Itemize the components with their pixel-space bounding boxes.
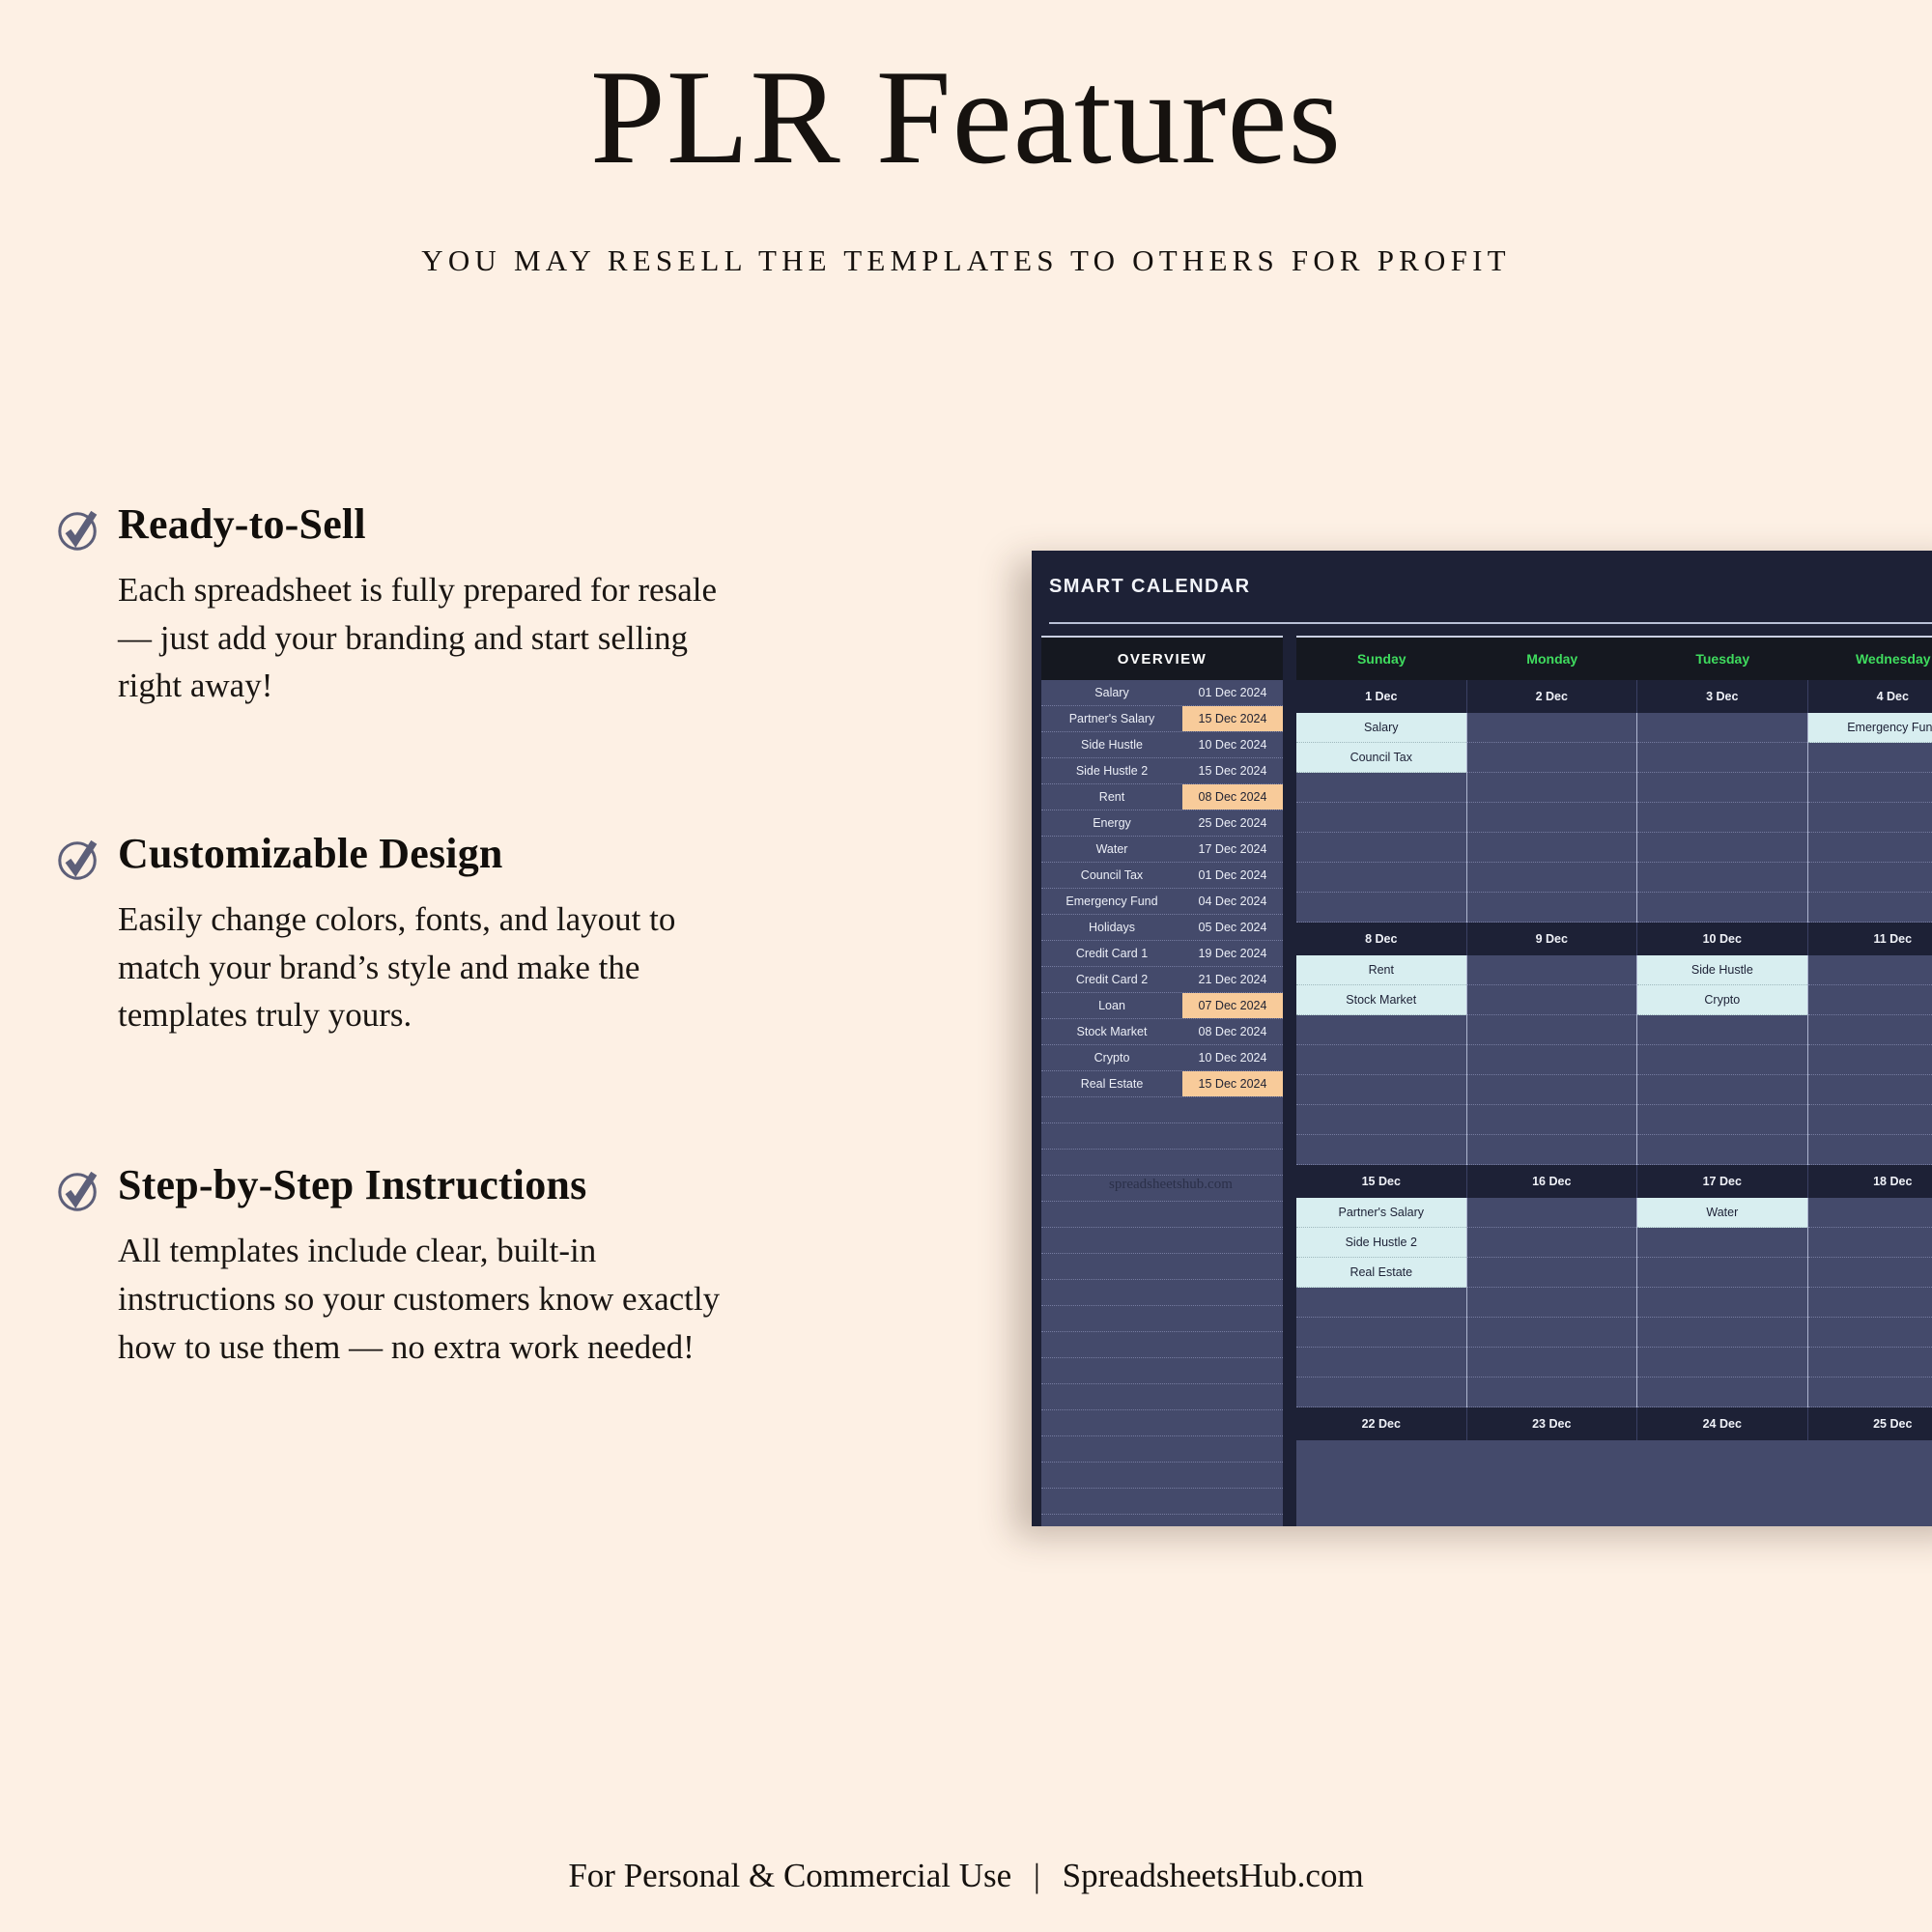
calendar-date-cell[interactable]: 10 Dec <box>1637 923 1808 955</box>
overview-row-label: Holidays <box>1041 915 1182 940</box>
calendar-day-column: RentStock Market <box>1296 955 1467 1165</box>
calendar-empty-cell[interactable] <box>1808 1045 1932 1075</box>
calendar-empty-cell[interactable] <box>1808 803 1932 833</box>
calendar-event[interactable]: Council Tax <box>1296 743 1466 773</box>
calendar-empty-cell[interactable] <box>1467 1228 1637 1258</box>
calendar-day-column <box>1467 713 1638 923</box>
calendar-empty-cell[interactable] <box>1808 1318 1932 1348</box>
calendar-empty-cell[interactable] <box>1467 1075 1637 1105</box>
footer-left: For Personal & Commercial Use <box>568 1857 1011 1894</box>
calendar-bottom-dates: 22 Dec23 Dec24 Dec25 Dec <box>1296 1407 1932 1440</box>
overview-row-label: Water <box>1041 837 1182 862</box>
calendar-day-column <box>1808 1198 1932 1407</box>
calendar-empty-cell[interactable] <box>1808 1228 1932 1258</box>
page-title: PLR Features <box>0 46 1932 188</box>
calendar-empty-cell[interactable] <box>1808 743 1932 773</box>
overview-row-label: Council Tax <box>1041 863 1182 888</box>
calendar-empty-cell[interactable] <box>1467 1198 1637 1228</box>
calendar-day-header: Tuesday <box>1637 638 1808 680</box>
calendar-event[interactable]: Real Estate <box>1296 1258 1466 1288</box>
calendar-empty-cell[interactable] <box>1637 1228 1807 1258</box>
calendar-date-cell[interactable]: 1 Dec <box>1296 680 1467 713</box>
overview-row-date-highlighted: 15 Dec 2024 <box>1182 706 1283 731</box>
calendar-day-column: Emergency Fund <box>1808 713 1932 923</box>
calendar-empty-cell[interactable] <box>1467 985 1637 1015</box>
overview-row[interactable]: Salary01 Dec 2024 <box>1041 680 1283 706</box>
calendar-week-grid: Partner's SalarySide Hustle 2Real Estate… <box>1296 1198 1932 1407</box>
calendar-empty-cell[interactable] <box>1808 1258 1932 1288</box>
feature-title: Step-by-Step Instructions <box>118 1163 586 1207</box>
calendar-empty-cell[interactable] <box>1637 833 1807 863</box>
calendar-date-cell[interactable]: 11 Dec <box>1808 923 1932 955</box>
overview-row-date: 19 Dec 2024 <box>1182 941 1283 966</box>
calendar-event[interactable]: Stock Market <box>1296 985 1466 1015</box>
overview-empty-row <box>1041 1463 1283 1489</box>
overview-empty-row <box>1041 1358 1283 1384</box>
calendar-day-column <box>1467 1198 1638 1407</box>
overview-empty-row <box>1041 1384 1283 1410</box>
overview-row[interactable]: Holidays05 Dec 2024 <box>1041 915 1283 941</box>
overview-row-date: 17 Dec 2024 <box>1182 837 1283 862</box>
spreadsheet-body: OVERVIEW Salary01 Dec 2024Partner's Sala… <box>1032 636 1932 1526</box>
calendar-empty-cell[interactable] <box>1296 1378 1466 1407</box>
feature-item: Ready-to-Sell Each spreadsheet is fully … <box>56 502 752 710</box>
calendar-empty-cell[interactable] <box>1467 955 1637 985</box>
calendar-empty-cell[interactable] <box>1467 743 1637 773</box>
calendar-date-cell[interactable]: 3 Dec <box>1637 680 1808 713</box>
overview-empty-row <box>1041 1306 1283 1332</box>
spreadsheet-title: SMART CALENDAR <box>1049 576 1250 598</box>
overview-table: Salary01 Dec 2024Partner's Salary15 Dec … <box>1041 680 1283 1097</box>
calendar-day-header: Sunday <box>1296 638 1467 680</box>
calendar-event[interactable]: Emergency Fund <box>1808 713 1932 743</box>
overview-row-label: Salary <box>1041 680 1182 705</box>
calendar-empty-cell[interactable] <box>1637 1105 1807 1135</box>
overview-row-date: 15 Dec 2024 <box>1182 758 1283 783</box>
calendar-day-column: Partner's SalarySide Hustle 2Real Estate <box>1296 1198 1467 1407</box>
calendar-day-column <box>1467 955 1638 1165</box>
calendar-empty-cell[interactable] <box>1296 1288 1466 1318</box>
overview-row-date-highlighted: 15 Dec 2024 <box>1182 1071 1283 1096</box>
overview-row-label: Real Estate <box>1041 1071 1182 1096</box>
calendar-event[interactable]: Rent <box>1296 955 1466 985</box>
feature-heading-row: Ready-to-Sell <box>56 502 752 553</box>
overview-empty-row <box>1041 1489 1283 1515</box>
feature-body: Easily change colors, fonts, and layout … <box>118 895 736 1039</box>
calendar-empty-cell[interactable] <box>1296 1318 1466 1348</box>
overview-row[interactable]: Partner's Salary15 Dec 2024 <box>1041 706 1283 732</box>
overview-row-label: Partner's Salary <box>1041 706 1182 731</box>
overview-empty-row <box>1041 1436 1283 1463</box>
calendar-empty-cell[interactable] <box>1808 1105 1932 1135</box>
circled-check-icon <box>56 838 100 882</box>
overview-row[interactable]: Crypto10 Dec 2024 <box>1041 1045 1283 1071</box>
calendar-empty-cell[interactable] <box>1808 1198 1932 1228</box>
calendar-week-grid: RentStock MarketSide HustleCrypto <box>1296 955 1932 1165</box>
overview-row[interactable]: Credit Card 221 Dec 2024 <box>1041 967 1283 993</box>
calendar-event[interactable]: Partner's Salary <box>1296 1198 1466 1228</box>
calendar-date-cell[interactable]: 24 Dec <box>1637 1407 1808 1440</box>
overview-row-date-highlighted: 07 Dec 2024 <box>1182 993 1283 1018</box>
feature-item: Customizable Design Easily change colors… <box>56 832 752 1039</box>
overview-row[interactable]: Side Hustle 215 Dec 2024 <box>1041 758 1283 784</box>
calendar-week-dates: 1 Dec2 Dec3 Dec4 Dec <box>1296 680 1932 713</box>
footer-separator: | <box>1034 1857 1040 1894</box>
overview-row-label: Side Hustle <box>1041 732 1182 757</box>
calendar-empty-cell[interactable] <box>1808 1135 1932 1165</box>
overview-row-label: Credit Card 1 <box>1041 941 1182 966</box>
overview-row-date: 21 Dec 2024 <box>1182 967 1283 992</box>
spreadsheet-window: SMART CALENDAR OVERVIEW Salary01 Dec 202… <box>1032 551 1932 1526</box>
calendar-week: 15 Dec16 Dec17 Dec18 DecPartner's Salary… <box>1296 1165 1932 1407</box>
calendar-day-header: Wednesday <box>1808 638 1932 680</box>
overview-row[interactable]: Rent08 Dec 2024 <box>1041 784 1283 810</box>
calendar-weeks: 1 Dec2 Dec3 Dec4 DecSalaryCouncil TaxEme… <box>1296 680 1932 1407</box>
calendar-empty-cell[interactable] <box>1296 1015 1466 1045</box>
overview-row-label: Energy <box>1041 810 1182 836</box>
calendar-empty-cell[interactable] <box>1637 1258 1807 1288</box>
calendar-date-cell[interactable]: 4 Dec <box>1808 680 1932 713</box>
overview-row-date: 10 Dec 2024 <box>1182 1045 1283 1070</box>
calendar-event[interactable]: Water <box>1637 1198 1807 1228</box>
overview-row-label: Crypto <box>1041 1045 1182 1070</box>
overview-empty-row <box>1041 1254 1283 1280</box>
calendar-empty-cell[interactable] <box>1808 955 1932 985</box>
calendar-day-column <box>1637 713 1808 923</box>
calendar-empty-cell[interactable] <box>1808 1378 1932 1407</box>
calendar-empty-cell[interactable] <box>1637 713 1807 743</box>
calendar-empty-cell[interactable] <box>1637 1318 1807 1348</box>
overview-empty-row <box>1041 1150 1283 1176</box>
calendar-empty-cell[interactable] <box>1467 773 1637 803</box>
calendar-empty-cell[interactable] <box>1637 1135 1807 1165</box>
calendar-day-column: SalaryCouncil Tax <box>1296 713 1467 923</box>
calendar-empty-cell[interactable] <box>1637 1348 1807 1378</box>
calendar-week-dates: 8 Dec9 Dec10 Dec11 Dec <box>1296 923 1932 955</box>
feature-title: Customizable Design <box>118 832 503 876</box>
feature-heading-row: Step-by-Step Instructions <box>56 1163 752 1213</box>
footer: For Personal & Commercial Use | Spreadsh… <box>0 1857 1932 1895</box>
overview-empty-row <box>1041 1123 1283 1150</box>
calendar-empty-cell[interactable] <box>1296 863 1466 893</box>
calendar-date-cell[interactable]: 23 Dec <box>1467 1407 1638 1440</box>
overview-row-date-highlighted: 08 Dec 2024 <box>1182 784 1283 810</box>
overview-empty-row <box>1041 1280 1283 1306</box>
feature-title: Ready-to-Sell <box>118 502 366 547</box>
calendar-empty-cell[interactable] <box>1467 1318 1637 1348</box>
calendar-empty-cell[interactable] <box>1296 1075 1466 1105</box>
calendar-week: 8 Dec9 Dec10 Dec11 DecRentStock MarketSi… <box>1296 923 1932 1165</box>
calendar-empty-cell[interactable] <box>1296 833 1466 863</box>
overview-empty-row <box>1041 1202 1283 1228</box>
calendar-empty-cell[interactable] <box>1467 803 1637 833</box>
calendar-empty-cell[interactable] <box>1637 1378 1807 1407</box>
spreadsheet-header: SMART CALENDAR <box>1032 551 1932 636</box>
overview-empty-row <box>1041 1332 1283 1358</box>
footer-right: SpreadsheetsHub.com <box>1063 1857 1364 1894</box>
calendar-empty-cell[interactable] <box>1467 893 1637 923</box>
calendar-empty-cell[interactable] <box>1808 833 1932 863</box>
poster-page: PLR Features You may resell the template… <box>0 0 1932 1932</box>
calendar-date-cell[interactable]: 18 Dec <box>1808 1165 1932 1198</box>
overview-row[interactable]: Credit Card 119 Dec 2024 <box>1041 941 1283 967</box>
overview-row[interactable]: Side Hustle10 Dec 2024 <box>1041 732 1283 758</box>
calendar-date-cell[interactable]: 25 Dec <box>1808 1407 1932 1440</box>
calendar-week: 1 Dec2 Dec3 Dec4 DecSalaryCouncil TaxEme… <box>1296 680 1932 923</box>
calendar-empty-cell[interactable] <box>1808 773 1932 803</box>
calendar-panel: SundayMondayTuesdayWednesday 1 Dec2 Dec3… <box>1293 636 1932 1526</box>
calendar-empty-cell[interactable] <box>1467 1045 1637 1075</box>
overview-row-date: 25 Dec 2024 <box>1182 810 1283 836</box>
calendar-empty-cell[interactable] <box>1467 1015 1637 1045</box>
spreadsheet-screenshot: SMART CALENDAR OVERVIEW Salary01 Dec 202… <box>1032 551 1932 1526</box>
header-divider <box>1049 622 1932 624</box>
calendar-date-cell[interactable]: 15 Dec <box>1296 1165 1467 1198</box>
calendar-date-cell[interactable]: 17 Dec <box>1637 1165 1808 1198</box>
calendar-empty-cell[interactable] <box>1808 863 1932 893</box>
overview-row-label: Stock Market <box>1041 1019 1182 1044</box>
overview-row-date: 04 Dec 2024 <box>1182 889 1283 914</box>
calendar-empty-cell[interactable] <box>1467 1378 1637 1407</box>
overview-empty-row <box>1041 1228 1283 1254</box>
calendar-date-cell[interactable]: 2 Dec <box>1467 680 1638 713</box>
calendar-empty-cell[interactable] <box>1467 1105 1637 1135</box>
overview-empty-row <box>1041 1097 1283 1123</box>
calendar-empty-cell[interactable] <box>1296 803 1466 833</box>
calendar-day-header: Monday <box>1467 638 1638 680</box>
calendar-empty-cell[interactable] <box>1808 1075 1932 1105</box>
feature-item: Step-by-Step Instructions All templates … <box>56 1163 752 1371</box>
calendar-event[interactable]: Salary <box>1296 713 1466 743</box>
calendar-week-dates: 15 Dec16 Dec17 Dec18 Dec <box>1296 1165 1932 1198</box>
calendar-empty-cell[interactable] <box>1467 713 1637 743</box>
overview-row[interactable]: Council Tax01 Dec 2024 <box>1041 863 1283 889</box>
calendar-empty-cell[interactable] <box>1637 743 1807 773</box>
calendar-empty-cell[interactable] <box>1296 773 1466 803</box>
calendar-empty-cell[interactable] <box>1467 833 1637 863</box>
calendar-empty-cell[interactable] <box>1467 1135 1637 1165</box>
calendar-empty-cell[interactable] <box>1467 1288 1637 1318</box>
overview-row-date: 10 Dec 2024 <box>1182 732 1283 757</box>
overview-row-date: 01 Dec 2024 <box>1182 680 1283 705</box>
overview-row[interactable]: Stock Market08 Dec 2024 <box>1041 1019 1283 1045</box>
overview-empty-row <box>1041 1515 1283 1526</box>
calendar-event[interactable]: Crypto <box>1637 985 1807 1015</box>
overview-row-label: Loan <box>1041 993 1182 1018</box>
calendar-empty-cell[interactable] <box>1467 1348 1637 1378</box>
calendar-empty-cell[interactable] <box>1296 893 1466 923</box>
calendar-date-cell[interactable]: 9 Dec <box>1467 923 1638 955</box>
calendar-empty-cell[interactable] <box>1467 863 1637 893</box>
calendar-day-column <box>1808 955 1932 1165</box>
overview-row-date: 08 Dec 2024 <box>1182 1019 1283 1044</box>
calendar-day-column: Water <box>1637 1198 1808 1407</box>
calendar-empty-cell[interactable] <box>1808 985 1932 1015</box>
calendar-empty-cell[interactable] <box>1637 1015 1807 1045</box>
circled-check-icon <box>56 1169 100 1213</box>
calendar-empty-cell[interactable] <box>1296 1135 1466 1165</box>
calendar-empty-cell[interactable] <box>1296 1045 1466 1075</box>
calendar-empty-cell[interactable] <box>1637 1288 1807 1318</box>
calendar-date-cell[interactable]: 8 Dec <box>1296 923 1467 955</box>
overview-row-label: Emergency Fund <box>1041 889 1182 914</box>
overview-row-date: 05 Dec 2024 <box>1182 915 1283 940</box>
calendar-empty-cell[interactable] <box>1637 773 1807 803</box>
calendar-empty-cell[interactable] <box>1808 1348 1932 1378</box>
calendar-empty-cell[interactable] <box>1637 863 1807 893</box>
calendar-event[interactable]: Side Hustle <box>1637 955 1807 985</box>
feature-body: Each spreadsheet is fully prepared for r… <box>118 566 736 710</box>
overview-row[interactable]: Loan07 Dec 2024 <box>1041 993 1283 1019</box>
feature-body: All templates include clear, built-in in… <box>118 1227 736 1371</box>
calendar-empty-cell[interactable] <box>1637 803 1807 833</box>
calendar-empty-cell[interactable] <box>1637 893 1807 923</box>
feature-list: Ready-to-Sell Each spreadsheet is fully … <box>56 502 752 1446</box>
overview-empty-row <box>1041 1410 1283 1436</box>
overview-heading: OVERVIEW <box>1041 636 1283 680</box>
calendar-event[interactable]: Side Hustle 2 <box>1296 1228 1466 1258</box>
calendar-empty-cell[interactable] <box>1637 1075 1807 1105</box>
calendar-empty-cell[interactable] <box>1296 1105 1466 1135</box>
calendar-empty-cell[interactable] <box>1637 1045 1807 1075</box>
calendar-empty-cell[interactable] <box>1296 1348 1466 1378</box>
overview-row-label: Credit Card 2 <box>1041 967 1182 992</box>
circled-check-icon <box>56 508 100 553</box>
calendar-empty-cell[interactable] <box>1808 1015 1932 1045</box>
overview-row[interactable]: Real Estate15 Dec 2024 <box>1041 1071 1283 1097</box>
overview-empty-rows <box>1041 1097 1283 1526</box>
overview-row[interactable]: Water17 Dec 2024 <box>1041 837 1283 863</box>
overview-row-label: Side Hustle 2 <box>1041 758 1182 783</box>
overview-row-label: Rent <box>1041 784 1182 810</box>
overview-panel: OVERVIEW Salary01 Dec 2024Partner's Sala… <box>1041 636 1283 1526</box>
overview-row[interactable]: Emergency Fund04 Dec 2024 <box>1041 889 1283 915</box>
calendar-empty-cell[interactable] <box>1467 1258 1637 1288</box>
calendar-week-grid: SalaryCouncil TaxEmergency Fund <box>1296 713 1932 923</box>
overview-row[interactable]: Energy25 Dec 2024 <box>1041 810 1283 837</box>
calendar-empty-cell[interactable] <box>1808 893 1932 923</box>
calendar-date-cell[interactable]: 16 Dec <box>1467 1165 1638 1198</box>
watermark: spreadsheetshub.com <box>1109 1177 1233 1193</box>
calendar-day-headers: SundayMondayTuesdayWednesday <box>1296 636 1932 680</box>
calendar-empty-cell[interactable] <box>1808 1288 1932 1318</box>
overview-row-date: 01 Dec 2024 <box>1182 863 1283 888</box>
calendar-date-cell[interactable]: 22 Dec <box>1296 1407 1467 1440</box>
feature-heading-row: Customizable Design <box>56 832 752 882</box>
calendar-day-column: Side HustleCrypto <box>1637 955 1808 1165</box>
page-subtitle: You may resell the templates to others f… <box>0 243 1932 278</box>
